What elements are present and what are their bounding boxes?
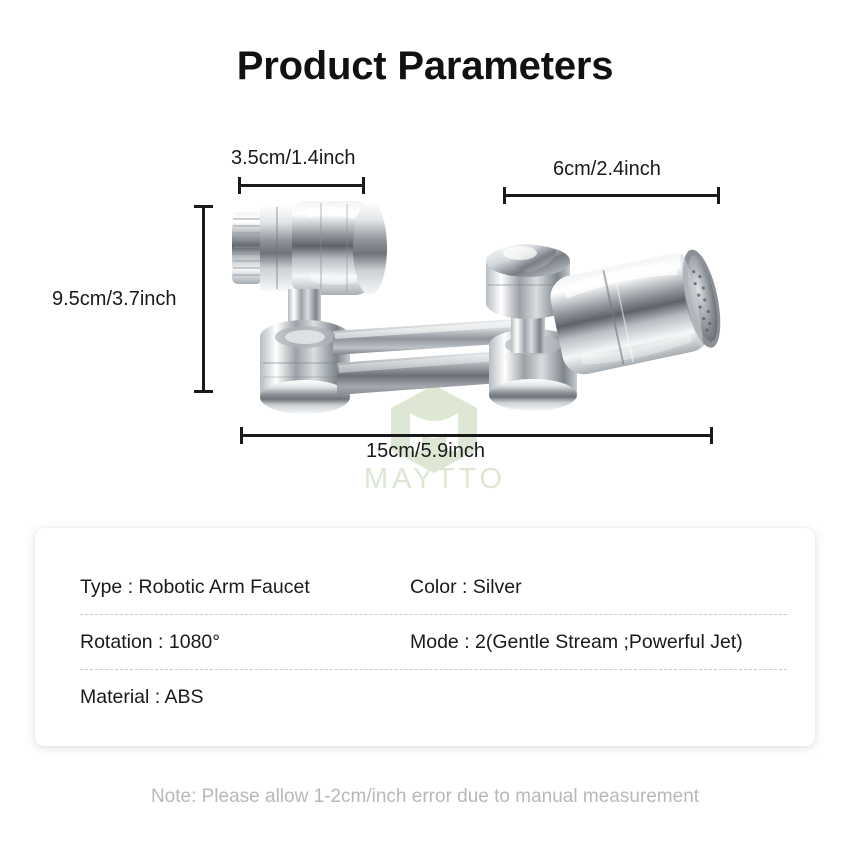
dimension-label-height-total: 9.5cm/3.7inch [52, 288, 177, 311]
spec-color: Color : Silver [410, 576, 815, 599]
product-photo-robotic-arm-faucet [215, 185, 735, 420]
spec-type: Type : Robotic Arm Faucet [80, 576, 410, 599]
measurement-note: Note: Please allow 1-2cm/inch error due … [0, 786, 850, 808]
dimension-line-height-total [202, 205, 205, 393]
page-title: Product Parameters [0, 44, 850, 89]
specification-card: Type : Robotic Arm Faucet Color : Silver… [35, 528, 815, 746]
dimension-line-length-total [240, 434, 713, 437]
brand-name: MAYTTO [340, 463, 530, 496]
dimension-tick-bottom [194, 390, 213, 393]
dimension-tick-end [717, 187, 720, 204]
dimension-label-length-total: 15cm/5.9inch [366, 440, 485, 463]
dimension-line-length-spout [503, 194, 720, 197]
spec-rotation: Rotation : 1080° [80, 631, 410, 654]
spec-material: Material : ABS [80, 686, 410, 709]
table-row: Type : Robotic Arm Faucet Color : Silver [35, 560, 815, 615]
dimension-tick-end [362, 177, 365, 194]
table-row: Material : ABS [35, 670, 815, 725]
dimension-tick-start [503, 187, 506, 204]
table-row: Rotation : 1080° Mode : 2(Gentle Stream … [35, 615, 815, 670]
dimension-line-width-head [238, 184, 365, 187]
dimension-tick-end [710, 427, 713, 444]
spec-mode: Mode : 2(Gentle Stream ;Powerful Jet) [410, 631, 815, 654]
dimension-tick-start [238, 177, 241, 194]
product-parameters-page: Product Parameters MAYTTO [0, 0, 850, 850]
dimension-tick-start [240, 427, 243, 444]
dimension-label-width-head: 3.5cm/1.4inch [231, 147, 356, 170]
dimension-tick-top [194, 205, 213, 208]
dimension-label-length-spout: 6cm/2.4inch [553, 158, 661, 181]
